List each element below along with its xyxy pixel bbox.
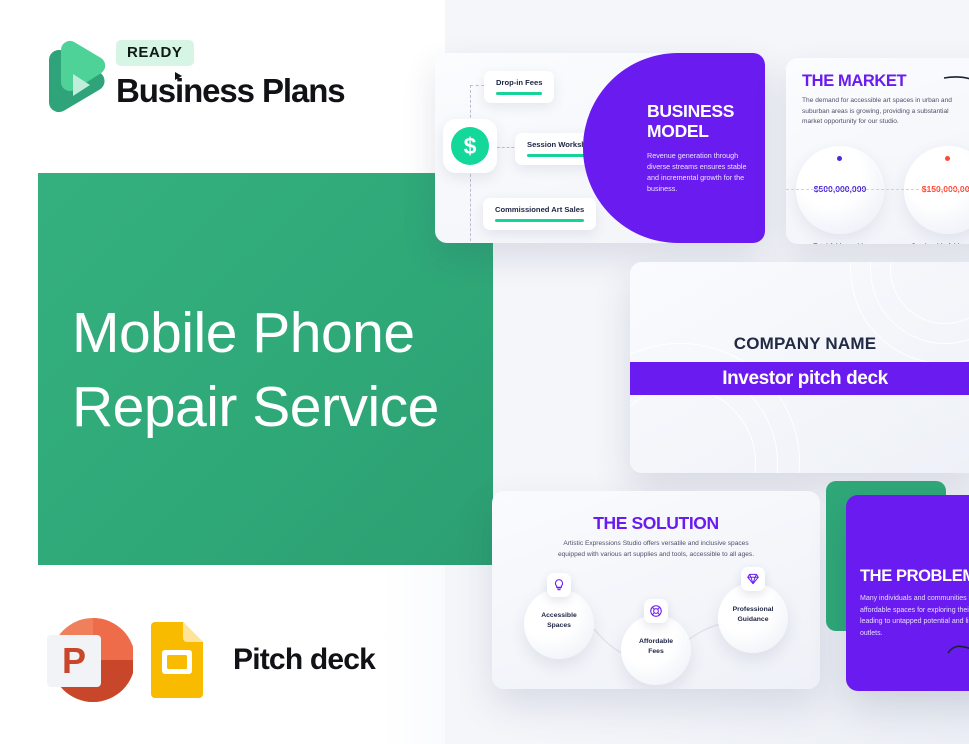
node-label-line-2: Spaces bbox=[524, 621, 594, 631]
slide-preview-canvas: Mobile Phone Repair Service READY Busine… bbox=[0, 0, 969, 744]
slide-the-problem[interactable]: THE PROBLEM Many individuals and communi… bbox=[846, 495, 969, 691]
solution-description: Artistic Expressions Studio offers versa… bbox=[556, 539, 756, 560]
node-label-line-1: Professional bbox=[718, 605, 788, 615]
problem-title: THE PROBLEM bbox=[860, 567, 969, 586]
format-badges: P Pitch deck bbox=[41, 615, 375, 705]
slide-company-name[interactable]: COMPANY NAME Investor pitch deck bbox=[630, 262, 969, 473]
node-label-line-2: Guidance bbox=[718, 615, 788, 625]
investor-pitch-deck-text: Investor pitch deck bbox=[722, 368, 888, 390]
revenue-stream-label: Drop-in Fees bbox=[496, 78, 542, 87]
business-model-title-line-2: MODEL bbox=[647, 121, 759, 141]
slide-the-market[interactable]: THE MARKET The demand for accessible art… bbox=[786, 58, 969, 244]
node-label: Accessible Spaces bbox=[524, 611, 594, 630]
gauge-caption-line-1: Total Addressable bbox=[788, 242, 892, 244]
gauge-caption-line-1: Serviceable Addressable bbox=[896, 242, 969, 244]
diamond-icon bbox=[741, 567, 765, 591]
node-label-line-2: Fees bbox=[621, 647, 691, 657]
gauge-caption: Serviceable Addressable Market (SAM) bbox=[896, 242, 969, 244]
svg-text:P: P bbox=[62, 640, 86, 681]
slide-business-model[interactable]: $ Drop-in Fees Session Workshops Commiss… bbox=[435, 53, 765, 243]
slide-the-solution[interactable]: THE SOLUTION Artistic Expressions Studio… bbox=[492, 491, 820, 689]
play-triangle-logo-icon bbox=[38, 38, 108, 116]
business-model-panel: BUSINESS MODEL Revenue generation throug… bbox=[583, 53, 765, 243]
underline-accent bbox=[496, 92, 542, 95]
squiggle-decoration-icon bbox=[946, 631, 969, 661]
underline-accent bbox=[495, 219, 584, 222]
node-label: Affordable Fees bbox=[621, 637, 691, 656]
brand-wordmark: Business Plans bbox=[116, 72, 345, 110]
business-model-title: BUSINESS MODEL bbox=[647, 101, 759, 141]
google-slides-icon bbox=[145, 622, 207, 698]
page-title: Mobile Phone Repair Service bbox=[72, 296, 502, 444]
gauge-caption: Total Addressable Market (TAM) bbox=[788, 242, 892, 244]
play-triangle-dot-icon bbox=[175, 72, 182, 80]
business-model-description: Revenue generation through diverse strea… bbox=[647, 150, 759, 194]
gauge-indicator-dot bbox=[837, 156, 842, 161]
node-label-line-1: Accessible bbox=[524, 611, 594, 621]
solution-node[interactable]: Accessible Spaces bbox=[524, 589, 594, 659]
dollar-icon-card: $ bbox=[443, 119, 497, 173]
brand-logo[interactable]: READY Business Plans bbox=[38, 36, 338, 118]
business-model-title-line-1: BUSINESS bbox=[647, 101, 759, 121]
solution-node[interactable]: Professional Guidance bbox=[718, 583, 788, 653]
company-name-label: COMPANY NAME bbox=[630, 334, 969, 354]
revenue-stream-item[interactable]: Drop-in Fees bbox=[484, 71, 554, 103]
solution-node[interactable]: Affordable Fees bbox=[621, 615, 691, 685]
revenue-stream-label: Commissioned Art Sales bbox=[495, 205, 584, 214]
market-title: THE MARKET bbox=[802, 72, 906, 91]
lifebuoy-icon bbox=[644, 599, 668, 623]
page-title-line-1: Mobile Phone bbox=[72, 296, 502, 370]
market-gauge-tam: $500,000,000 Total Addressable Market (T… bbox=[796, 146, 884, 234]
solution-title: THE SOLUTION bbox=[492, 513, 820, 534]
lightbulb-icon bbox=[547, 573, 571, 597]
gauge-indicator-dot bbox=[945, 156, 950, 161]
market-description: The demand for accessible art spaces in … bbox=[802, 96, 952, 128]
node-label-line-1: Affordable bbox=[621, 637, 691, 647]
format-label: Pitch deck bbox=[233, 643, 375, 677]
brand-wordmark-text: Business Plans bbox=[116, 72, 345, 109]
investor-pitch-deck-band: Investor pitch deck bbox=[630, 362, 969, 395]
market-gauge-sam: $150,000,000 Serviceable Addressable Mar… bbox=[904, 146, 969, 234]
ready-badge: READY bbox=[116, 40, 194, 66]
dollar-sign-icon: $ bbox=[451, 127, 489, 165]
gauge-axis-line bbox=[786, 189, 969, 190]
page-title-line-2: Repair Service bbox=[72, 370, 502, 444]
powerpoint-icon: P bbox=[41, 615, 133, 705]
curved-arrow-icon bbox=[942, 72, 969, 114]
revenue-stream-item[interactable]: Commissioned Art Sales bbox=[483, 198, 596, 230]
node-label: Professional Guidance bbox=[718, 605, 788, 624]
brand-logo-text: READY Business Plans bbox=[116, 40, 345, 110]
